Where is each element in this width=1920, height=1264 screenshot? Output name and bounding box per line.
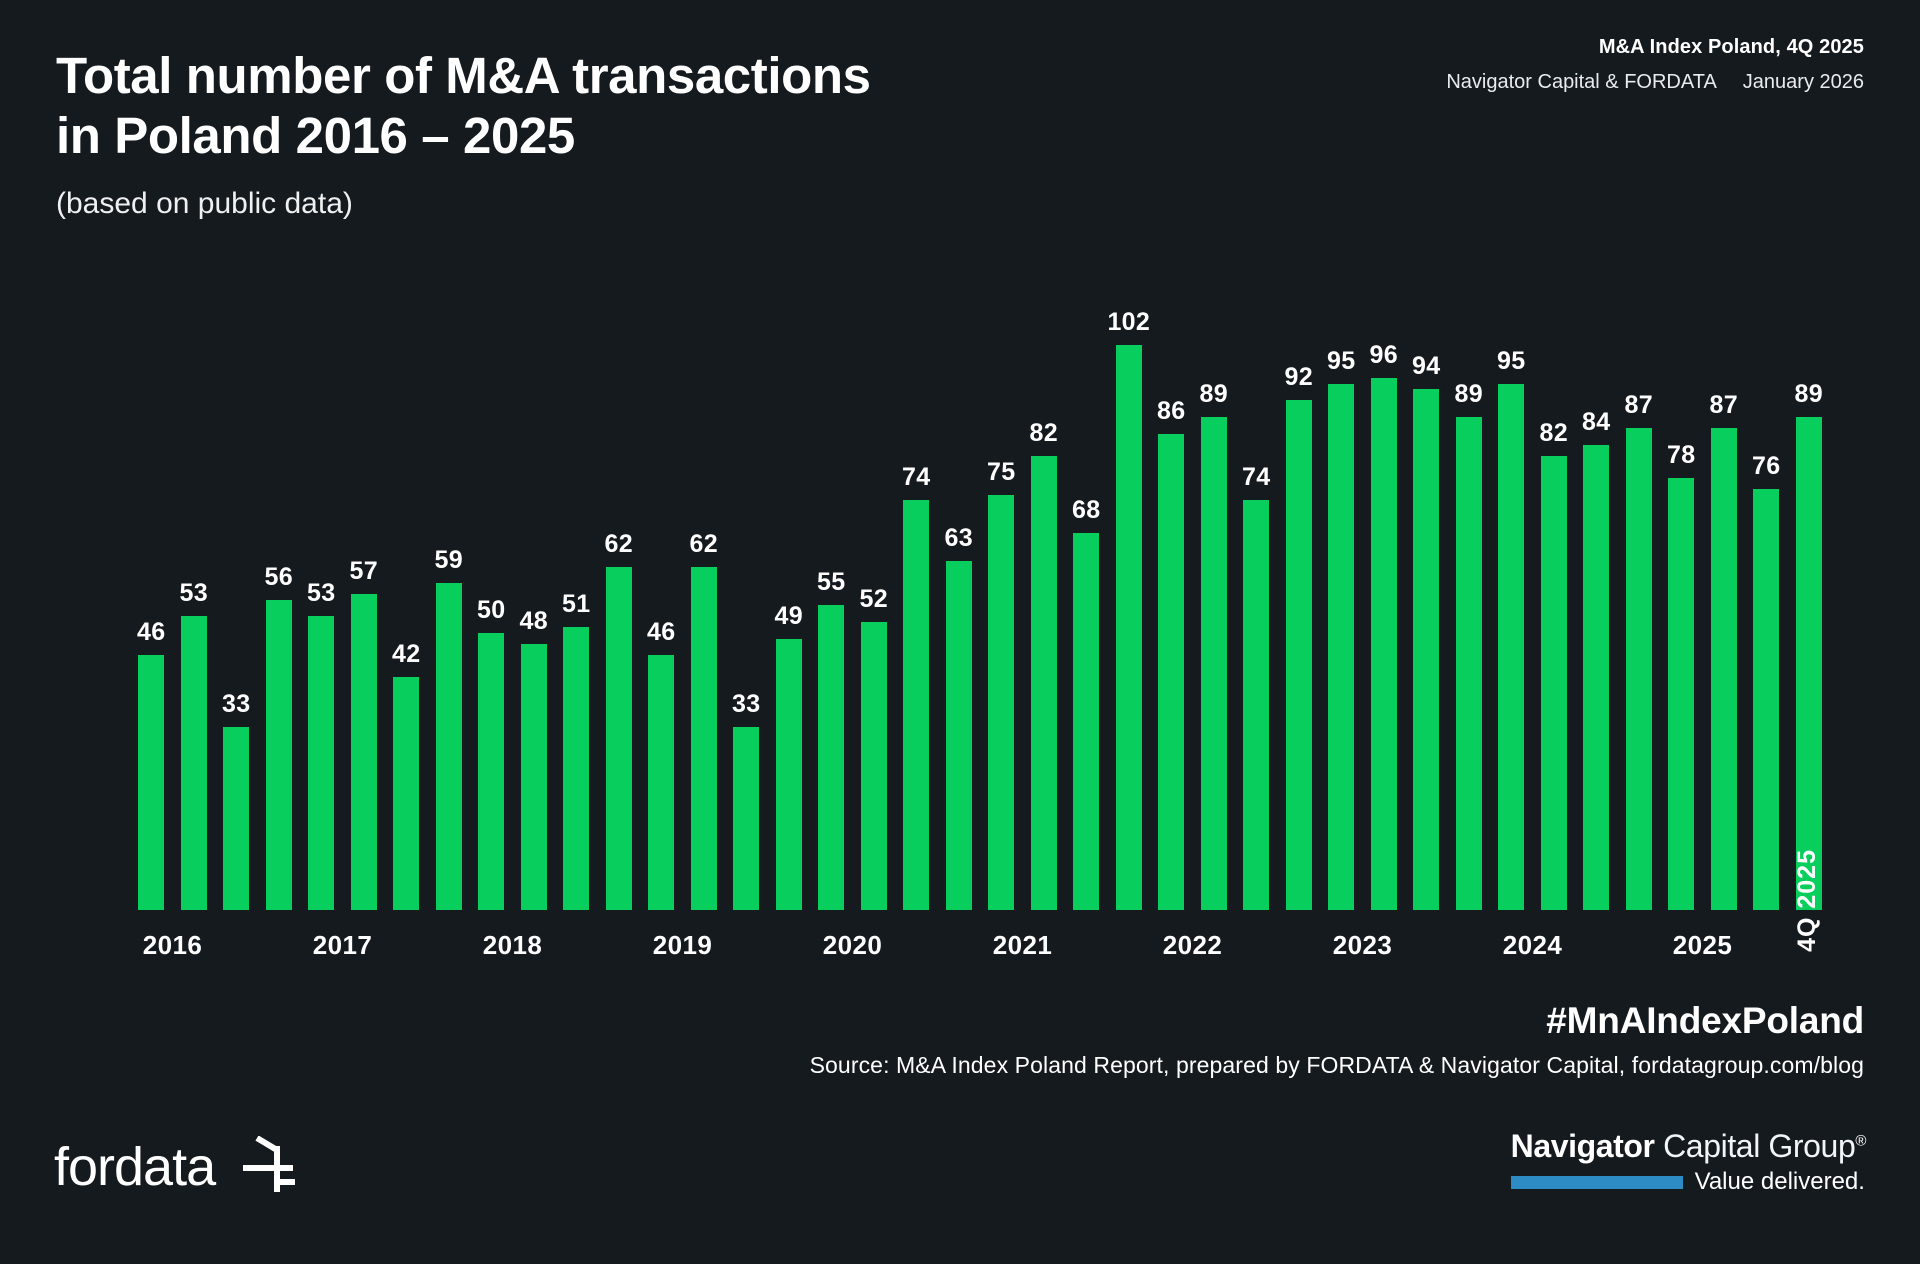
bar[interactable] bbox=[393, 677, 419, 910]
bar-slot: 87 bbox=[1703, 230, 1746, 910]
bar-value-label: 53 bbox=[307, 579, 335, 608]
bar[interactable] bbox=[223, 727, 249, 910]
x-axis-tick-2025: 2025 bbox=[1673, 930, 1732, 961]
bar-slot: 52 bbox=[853, 230, 896, 910]
bar-value-label: 92 bbox=[1285, 363, 1313, 392]
bar-slot: 86 bbox=[1150, 230, 1193, 910]
bar[interactable] bbox=[1031, 456, 1057, 910]
bar-slot: 82 bbox=[1023, 230, 1066, 910]
bar-slot: 63 bbox=[938, 230, 981, 910]
x-axis-tick-2024: 2024 bbox=[1503, 930, 1562, 961]
bar-slot: 89 bbox=[1788, 230, 1831, 910]
bar[interactable] bbox=[266, 600, 292, 910]
bar[interactable] bbox=[436, 583, 462, 910]
navigator-tagline-row: Value delivered. bbox=[1511, 1171, 1866, 1193]
bar[interactable] bbox=[1158, 434, 1184, 910]
fordata-cross-icon bbox=[237, 1136, 299, 1198]
bar-value-label: 95 bbox=[1497, 347, 1525, 376]
x-axis-tick-2021: 2021 bbox=[993, 930, 1052, 961]
bar-slot: 62 bbox=[683, 230, 726, 910]
bar-value-label: 89 bbox=[1795, 380, 1823, 409]
bar-value-label: 74 bbox=[1242, 463, 1270, 492]
report-date: January 2026 bbox=[1743, 71, 1864, 93]
bar-value-label: 87 bbox=[1625, 391, 1653, 420]
bar-value-label: 74 bbox=[902, 463, 930, 492]
navigator-light-word: Capital Group bbox=[1655, 1128, 1856, 1164]
bar-value-label: 94 bbox=[1412, 352, 1440, 381]
registered-mark-icon: ® bbox=[1855, 1132, 1866, 1149]
report-meta: M&A Index Poland, 4Q 2025 Navigator Capi… bbox=[1446, 36, 1864, 94]
bar-value-label: 53 bbox=[180, 579, 208, 608]
bar-value-label: 50 bbox=[477, 596, 505, 625]
bar-slot: 74 bbox=[1235, 230, 1278, 910]
chart-canvas: Total number of M&A transactions in Pola… bbox=[0, 0, 1920, 1264]
bar[interactable] bbox=[733, 727, 759, 910]
bar-value-label: 63 bbox=[945, 524, 973, 553]
x-axis-tick-2023: 2023 bbox=[1333, 930, 1392, 961]
source-note: Source: M&A Index Poland Report, prepare… bbox=[810, 1052, 1864, 1079]
bar[interactable] bbox=[818, 605, 844, 910]
bar-slot: 76 bbox=[1745, 230, 1788, 910]
bar-slot: 68 bbox=[1065, 230, 1108, 910]
navigator-logo: Navigator Capital Group® Value delivered… bbox=[1511, 1128, 1866, 1193]
x-axis: 4Q 2025 20162017201820192020202120222023… bbox=[130, 930, 1830, 970]
navigator-wordmark: Navigator Capital Group® bbox=[1511, 1128, 1866, 1165]
bar-slot: 92 bbox=[1278, 230, 1321, 910]
bar[interactable] bbox=[1286, 400, 1312, 910]
bar-slot: 89 bbox=[1448, 230, 1491, 910]
bar[interactable] bbox=[521, 644, 547, 910]
bar-slot: 48 bbox=[513, 230, 556, 910]
bar-slot: 96 bbox=[1363, 230, 1406, 910]
bar-slot: 33 bbox=[215, 230, 258, 910]
bar-slot: 75 bbox=[980, 230, 1023, 910]
x-axis-tick-2020: 2020 bbox=[823, 930, 882, 961]
bar[interactable] bbox=[606, 567, 632, 910]
bar-slot: 53 bbox=[173, 230, 216, 910]
bar[interactable] bbox=[1626, 428, 1652, 910]
page-title: Total number of M&A transactions in Pola… bbox=[56, 46, 871, 166]
bar[interactable] bbox=[308, 616, 334, 910]
bar-slot: 89 bbox=[1193, 230, 1236, 910]
bar[interactable] bbox=[1201, 417, 1227, 910]
bar-slot: 55 bbox=[810, 230, 853, 910]
x-axis-tick-2017: 2017 bbox=[313, 930, 372, 961]
bar-value-label: 82 bbox=[1540, 419, 1568, 448]
bar[interactable] bbox=[1668, 478, 1694, 910]
bar-slot: 87 bbox=[1618, 230, 1661, 910]
bar[interactable] bbox=[946, 561, 972, 910]
navigator-tagline: Value delivered. bbox=[1695, 1168, 1865, 1196]
bar-value-label: 33 bbox=[732, 690, 760, 719]
page-subtitle: (based on public data) bbox=[56, 186, 871, 222]
bar-value-label: 46 bbox=[137, 618, 165, 647]
bar[interactable] bbox=[648, 655, 674, 910]
bar[interactable] bbox=[1583, 445, 1609, 910]
bar-slot: 57 bbox=[343, 230, 386, 910]
bar-value-label: 49 bbox=[775, 602, 803, 631]
bar-slot: 102 bbox=[1108, 230, 1151, 910]
bar[interactable] bbox=[1753, 489, 1779, 910]
bar-slot: 50 bbox=[470, 230, 513, 910]
bar-value-label: 78 bbox=[1667, 441, 1695, 470]
bar-value-label: 33 bbox=[222, 690, 250, 719]
bar-slot: 49 bbox=[768, 230, 811, 910]
bar-value-label: 52 bbox=[860, 585, 888, 614]
bar-value-label: 56 bbox=[265, 563, 293, 592]
bar-value-label: 95 bbox=[1327, 347, 1355, 376]
bar[interactable] bbox=[1711, 428, 1737, 910]
bar-slot: 56 bbox=[258, 230, 301, 910]
bar-slot: 94 bbox=[1405, 230, 1448, 910]
bar-value-label: 76 bbox=[1752, 452, 1780, 481]
bar[interactable] bbox=[861, 622, 887, 910]
bar[interactable] bbox=[988, 495, 1014, 910]
bar[interactable] bbox=[138, 655, 164, 910]
bar-value-label: 87 bbox=[1710, 391, 1738, 420]
bar-series: 4653335653574259504851624662334955527463… bbox=[130, 230, 1830, 910]
bar-value-label: 96 bbox=[1370, 341, 1398, 370]
bar-slot: 42 bbox=[385, 230, 428, 910]
bar-chart-plot: 4653335653574259504851624662334955527463… bbox=[130, 230, 1830, 910]
bar[interactable] bbox=[1116, 345, 1142, 910]
fordata-wordmark: fordata bbox=[54, 1136, 215, 1198]
navigator-blue-bar bbox=[1511, 1176, 1683, 1189]
hashtag: #MnAIndexPoland bbox=[1546, 1000, 1864, 1042]
bar[interactable] bbox=[776, 639, 802, 910]
bar-slot: 51 bbox=[555, 230, 598, 910]
bar[interactable] bbox=[563, 627, 589, 910]
navigator-bold-word: Navigator bbox=[1511, 1128, 1655, 1164]
fordata-logo: fordata bbox=[54, 1136, 299, 1198]
bar-value-label: 57 bbox=[350, 557, 378, 586]
report-attribution: Navigator Capital & FORDATAJanuary 2026 bbox=[1446, 71, 1864, 94]
bar-value-label: 89 bbox=[1455, 380, 1483, 409]
bar-slot: 46 bbox=[640, 230, 683, 910]
bar[interactable] bbox=[691, 567, 717, 910]
bar-value-label: 55 bbox=[817, 568, 845, 597]
bar[interactable] bbox=[1413, 389, 1439, 910]
x-axis-tick-2019: 2019 bbox=[653, 930, 712, 961]
bar-value-label: 86 bbox=[1157, 397, 1185, 426]
bar-value-label: 48 bbox=[520, 607, 548, 636]
bar-value-label: 62 bbox=[605, 530, 633, 559]
bar-slot: 74 bbox=[895, 230, 938, 910]
bar-slot: 59 bbox=[428, 230, 471, 910]
report-name: M&A Index Poland, 4Q 2025 bbox=[1446, 36, 1864, 59]
bar[interactable] bbox=[1498, 384, 1524, 910]
bar-value-label: 59 bbox=[435, 546, 463, 575]
bar-slot: 78 bbox=[1660, 230, 1703, 910]
bar-slot: 84 bbox=[1575, 230, 1618, 910]
bar-slot: 53 bbox=[300, 230, 343, 910]
bar-value-label: 75 bbox=[987, 458, 1015, 487]
bar[interactable] bbox=[1371, 378, 1397, 910]
bar[interactable] bbox=[1541, 456, 1567, 910]
bar-slot: 95 bbox=[1490, 230, 1533, 910]
bar-value-label: 42 bbox=[392, 640, 420, 669]
bar-slot: 95 bbox=[1320, 230, 1363, 910]
bar-value-label: 51 bbox=[562, 590, 590, 619]
bar-value-label: 82 bbox=[1030, 419, 1058, 448]
bar-slot: 46 bbox=[130, 230, 173, 910]
bar-value-label: 102 bbox=[1107, 308, 1150, 337]
bar[interactable] bbox=[1456, 417, 1482, 910]
bar[interactable] bbox=[1796, 417, 1822, 910]
bar[interactable] bbox=[903, 500, 929, 910]
bar-slot: 82 bbox=[1533, 230, 1576, 910]
x-axis-tick-2016: 2016 bbox=[143, 930, 202, 961]
bar-value-label: 68 bbox=[1072, 496, 1100, 525]
x-axis-tick-2018: 2018 bbox=[483, 930, 542, 961]
bar[interactable] bbox=[351, 594, 377, 910]
title-block: Total number of M&A transactions in Pola… bbox=[56, 46, 871, 222]
bar-slot: 33 bbox=[725, 230, 768, 910]
report-authors: Navigator Capital & FORDATA bbox=[1446, 71, 1716, 93]
bar-value-label: 89 bbox=[1200, 380, 1228, 409]
bar-value-label: 84 bbox=[1582, 408, 1610, 437]
bar-value-label: 62 bbox=[690, 530, 718, 559]
bar-value-label: 46 bbox=[647, 618, 675, 647]
last-quarter-annotation: 4Q 2025 bbox=[1793, 849, 1822, 952]
bar[interactable] bbox=[478, 633, 504, 910]
bar[interactable] bbox=[1073, 533, 1099, 910]
bar[interactable] bbox=[1328, 384, 1354, 910]
bar[interactable] bbox=[1243, 500, 1269, 910]
bar[interactable] bbox=[181, 616, 207, 910]
bar-slot: 62 bbox=[598, 230, 641, 910]
x-axis-tick-2022: 2022 bbox=[1163, 930, 1222, 961]
